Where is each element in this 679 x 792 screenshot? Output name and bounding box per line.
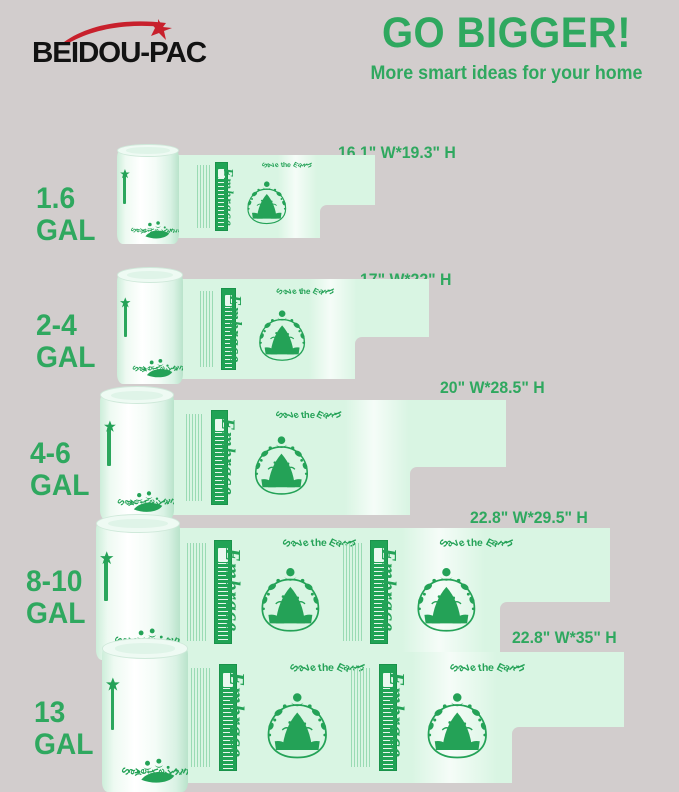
- bag-sheet: Embrace Save the Earth: [152, 652, 624, 783]
- print-motif: Embrace Save the Earth: [186, 652, 346, 783]
- dimension-label: 22.8" W*35" H: [512, 628, 617, 648]
- globe-tree-icon: [421, 685, 494, 763]
- bag-roll: Save the Future: [102, 645, 188, 792]
- product-row: 13 GAL 22.8" W*35" H Embrace: [0, 0, 679, 783]
- embrace-print-text: Embrace: [224, 672, 249, 758]
- bag-roll-globe-icon: [131, 739, 183, 792]
- bag-roll-print: Save the Future: [102, 645, 188, 792]
- print-motif: Embrace Save the Earth: [346, 652, 506, 783]
- barcode-lines-icon: [351, 668, 371, 768]
- barcode-lines-icon: [191, 668, 211, 768]
- bag-roll-core-hole: [115, 643, 175, 653]
- bag-roll-top-rim: [102, 638, 188, 659]
- bag-roll-green-strip: [111, 686, 115, 730]
- bag-roll-leaf-icon: [106, 677, 120, 692]
- globe-tree-icon: [261, 685, 334, 763]
- save-the-earth-print-text: Save the Earth: [451, 662, 524, 674]
- capacity-number: 13: [34, 697, 94, 729]
- capacity-unit: GAL: [34, 729, 94, 761]
- bag-sheet-notch: [512, 727, 624, 783]
- capacity-label: 13 GAL: [34, 697, 94, 762]
- embrace-print-text: Embrace: [384, 672, 409, 758]
